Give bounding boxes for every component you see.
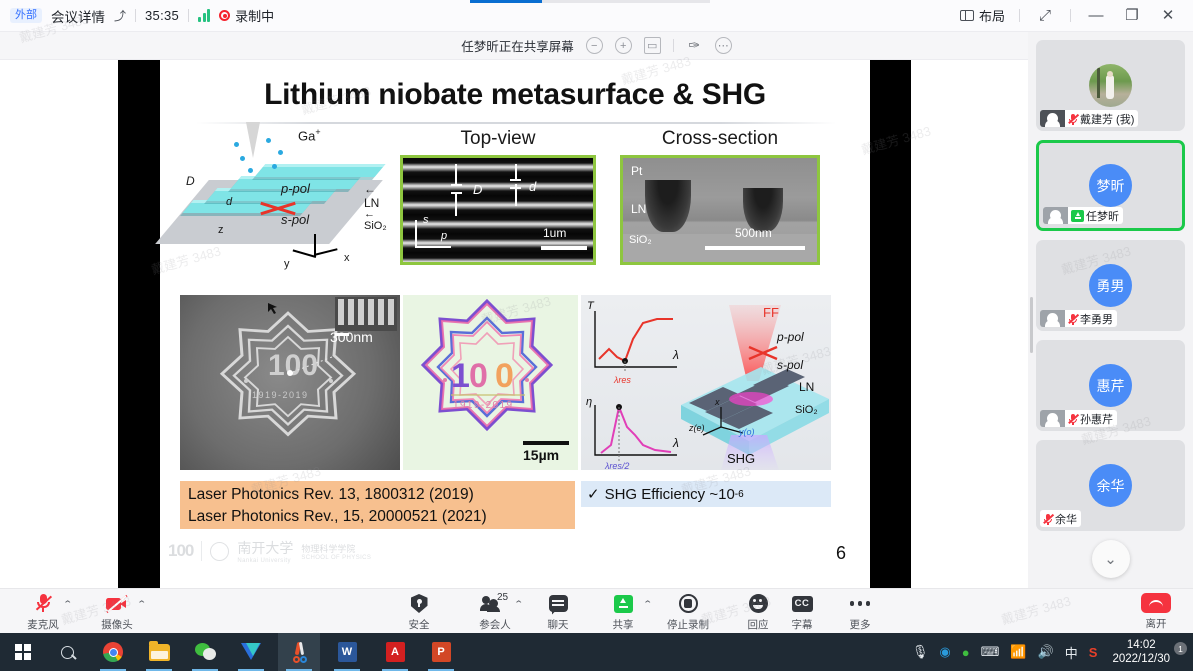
svg-text:T: T bbox=[587, 300, 595, 312]
participant-name: 李勇男 bbox=[1080, 311, 1113, 327]
wechat-icon bbox=[195, 643, 216, 661]
participant-name: 余华 bbox=[1055, 511, 1077, 527]
svg-text:1919-2019: 1919-2019 bbox=[453, 400, 513, 411]
svg-text:λres/2: λres/2 bbox=[604, 461, 629, 470]
svg-text:0: 0 bbox=[495, 357, 514, 395]
star-logo-shg-svg: 1 0 0 1919-2019 bbox=[403, 295, 578, 470]
citation-line-2: Laser Photonics Rev., 15, 20000521 (2021… bbox=[188, 506, 567, 528]
scroll-down-chevron-icon[interactable]: ⌄ bbox=[1092, 540, 1130, 578]
participant-nameplate: 孙惠芹 bbox=[1040, 410, 1117, 427]
participant-tile-0[interactable]: 戴建芳 (我) bbox=[1036, 40, 1185, 131]
participant-nameplate: 戴建芳 (我) bbox=[1040, 110, 1138, 127]
star-logo-sem-svg: 100 1919-2019 bbox=[180, 295, 400, 470]
slide-title: Lithium niobate metasurface & SHG bbox=[160, 78, 870, 112]
slide-page-number: 6 bbox=[836, 543, 846, 564]
captions-label: 字幕 bbox=[792, 617, 813, 632]
ga-ion-label: Ga+ bbox=[298, 127, 321, 143]
axis-z-label: z bbox=[218, 224, 224, 236]
topview-scale-label: 1um bbox=[543, 226, 566, 240]
wifi-icon[interactable]: 📶 bbox=[1010, 644, 1026, 660]
svg-text:FF: FF bbox=[763, 305, 779, 320]
more-dots-icon bbox=[850, 593, 870, 614]
windows-taskbar: W A P 🎙 ◉ ● ⌨ 📶 🔊 中 S 14:02 2022/12/30 1 bbox=[0, 633, 1193, 671]
topview-p-axis-label: p bbox=[441, 230, 447, 242]
recording-indicator: 录制中 bbox=[219, 6, 274, 25]
avatar: 勇男 bbox=[1089, 264, 1132, 307]
record-dot-icon bbox=[219, 10, 230, 21]
avatar: 惠芹 bbox=[1089, 364, 1132, 407]
microphone-label: 麦克风 bbox=[27, 617, 59, 632]
snipping-tool-icon bbox=[289, 642, 310, 663]
mic-muted-icon bbox=[1068, 113, 1078, 125]
microphone-tray-icon[interactable]: 🎙 bbox=[912, 644, 929, 660]
share-screen-icon bbox=[614, 593, 633, 614]
meeting-topbar: 外部 会议详情 ⤴ 35:35 录制中 布局 ⤢ — ❐ ✕ bbox=[0, 0, 1193, 32]
svg-text:SHG: SHG bbox=[727, 451, 755, 466]
school-name-cn: 物理科学学院 bbox=[301, 542, 371, 555]
more-options-icon[interactable]: ⋯ bbox=[715, 37, 732, 54]
slide-footer-logo: 100 南开大学 Nankai University 物理科学学院 SCHOOL… bbox=[168, 538, 371, 564]
more-options-button[interactable]: 更多 bbox=[831, 593, 889, 632]
divider bbox=[135, 9, 136, 22]
stop-recording-label: 停止录制 bbox=[667, 617, 709, 632]
participants-count: 25 bbox=[497, 592, 508, 603]
topview-caption: Top-view bbox=[400, 128, 596, 150]
topview-scale-bar bbox=[541, 246, 587, 250]
acrobat-icon: A bbox=[386, 642, 405, 662]
divider bbox=[188, 9, 189, 22]
clock-date: 2022/12/30 bbox=[1112, 653, 1170, 665]
screen-share-bar: 任梦昕正在共享屏幕 − + ▭ ✑ ⋯ bbox=[0, 32, 1193, 60]
participant-tile-3[interactable]: 惠芹 孙惠芹 bbox=[1036, 340, 1185, 431]
dimension-D-label: D bbox=[186, 174, 195, 188]
presentation-slide: Lithium niobate metasurface & SHG p-pol … bbox=[160, 60, 870, 588]
efficiency-exponent: -6 bbox=[735, 489, 744, 500]
shg-logo-image: 1 0 0 1919-2019 15µm bbox=[403, 295, 578, 470]
leave-label: 离开 bbox=[1146, 616, 1167, 631]
svg-text:1919-2019: 1919-2019 bbox=[252, 390, 309, 400]
clock[interactable]: 14:02 2022/12/30 bbox=[1108, 638, 1174, 666]
shared-screen-stage[interactable]: Lithium niobate metasurface & SHG p-pol … bbox=[0, 60, 1028, 588]
search-icon bbox=[61, 646, 74, 659]
taskbar-chrome[interactable] bbox=[92, 633, 134, 671]
participant-tile-1[interactable]: 梦昕 任梦昕 bbox=[1036, 140, 1185, 231]
avatar bbox=[1089, 64, 1132, 107]
recording-label: 录制中 bbox=[235, 6, 274, 25]
participants-chevron-icon[interactable]: ⌃ bbox=[514, 599, 524, 610]
svg-text:z(e): z(e) bbox=[688, 423, 705, 433]
topview-D-label: D bbox=[473, 182, 482, 197]
clock-time: 14:02 bbox=[1127, 639, 1156, 651]
participant-name: 任梦昕 bbox=[1086, 208, 1119, 224]
mic-options-chevron-icon[interactable]: ⌃ bbox=[63, 599, 73, 610]
mic-muted-icon bbox=[1043, 513, 1053, 525]
university-name-en: Nankai University bbox=[237, 558, 293, 564]
taskbar-word[interactable]: W bbox=[326, 633, 368, 671]
share-options-chevron-icon[interactable]: ⌃ bbox=[643, 599, 653, 610]
reaction-label: 回应 bbox=[748, 617, 769, 632]
fullscreen-expand-icon[interactable]: ⤢ bbox=[1034, 8, 1056, 23]
topview-s-axis-label: s bbox=[423, 214, 429, 226]
crosssection-scale-bar bbox=[705, 246, 805, 250]
start-button[interactable] bbox=[2, 633, 44, 671]
shg-scale-label: 15µm bbox=[523, 447, 559, 463]
citation-box: Laser Photonics Rev. 13, 1800312 (2019) … bbox=[180, 481, 575, 529]
captions-button[interactable]: CC 字幕 bbox=[773, 593, 831, 632]
person-icon bbox=[1040, 310, 1065, 327]
shg-process-schematic: T λ λres η λ λres/2 FF bbox=[581, 295, 831, 470]
camera-options-chevron-icon[interactable]: ⌃ bbox=[137, 599, 147, 610]
svg-text:λ: λ bbox=[672, 436, 679, 450]
chat-button[interactable]: 聊天 bbox=[529, 593, 587, 632]
people-icon: 25 bbox=[482, 593, 508, 614]
citation-line-1: Laser Photonics Rev. 13, 1800312 (2019) bbox=[188, 484, 567, 506]
participant-name: 孙惠芹 bbox=[1080, 411, 1113, 427]
efficiency-check-icon: ✓ bbox=[587, 485, 600, 503]
close-button[interactable]: ✕ bbox=[1157, 8, 1179, 23]
fib-schematic-diagram: p-pol s-pol ← LN ← SiO₂ D d z x y bbox=[168, 124, 386, 269]
security-button[interactable]: 安全 bbox=[390, 593, 448, 632]
search-button[interactable] bbox=[46, 633, 88, 671]
participants-label: 参会人 bbox=[479, 617, 511, 632]
ln-label: ← LN bbox=[364, 182, 386, 210]
svg-text:0: 0 bbox=[469, 357, 488, 395]
emoji-reaction-icon bbox=[749, 593, 768, 614]
sogou-input-icon[interactable]: S bbox=[1089, 645, 1098, 660]
camera-off-icon bbox=[106, 593, 128, 614]
s-pol-label: s-pol bbox=[281, 212, 309, 227]
layer-ln-label: LN bbox=[631, 202, 646, 216]
zoom-out-icon[interactable]: − bbox=[586, 37, 603, 54]
share-label: 共享 bbox=[613, 617, 634, 632]
taskbar-powerpoint[interactable]: P bbox=[420, 633, 462, 671]
efficiency-text: SHG Efficiency ~10 bbox=[605, 486, 735, 503]
screen-share-icon bbox=[1071, 210, 1084, 222]
shg-schematic-svg: T λ λres η λ λres/2 FF bbox=[581, 295, 831, 470]
sio2-label: ← SiO₂ bbox=[364, 208, 387, 232]
taskbar-voov-meeting[interactable] bbox=[230, 633, 272, 671]
axis-y-label: y bbox=[284, 258, 290, 270]
keyboard-icon[interactable]: ⌨ bbox=[981, 644, 1000, 660]
participant-nameplate: 任梦昕 bbox=[1043, 207, 1123, 224]
p-pol-label: p-pol bbox=[281, 181, 310, 196]
svg-text:p-pol: p-pol bbox=[776, 330, 804, 344]
powerpoint-icon: P bbox=[432, 642, 451, 662]
camera-label: 摄像头 bbox=[101, 617, 133, 632]
avatar: 余华 bbox=[1089, 464, 1132, 507]
stop-recording-button[interactable]: 停止录制 bbox=[659, 593, 717, 632]
participant-nameplate: 李勇男 bbox=[1040, 310, 1117, 327]
voov-meeting-icon bbox=[241, 643, 262, 661]
zoom-in-icon[interactable]: + bbox=[615, 37, 632, 54]
layout-icon bbox=[960, 10, 974, 21]
rail-scrollbar[interactable] bbox=[1030, 297, 1033, 353]
divider bbox=[1019, 9, 1020, 22]
taskbar-file-explorer[interactable] bbox=[138, 633, 180, 671]
stop-record-icon bbox=[679, 593, 698, 614]
divider bbox=[201, 541, 202, 561]
top-progress-bar bbox=[470, 0, 710, 3]
svg-text:100: 100 bbox=[268, 349, 318, 382]
file-explorer-icon bbox=[149, 644, 170, 661]
topview-sem-image: D d s p 1um bbox=[400, 155, 596, 265]
hangup-icon bbox=[1141, 593, 1171, 613]
word-icon: W bbox=[338, 642, 357, 662]
topview-d-label: d bbox=[529, 179, 536, 194]
axis-x-label: x bbox=[344, 252, 350, 264]
security-label: 安全 bbox=[409, 617, 430, 632]
university-seal-icon bbox=[210, 542, 229, 561]
share-notice-text: 任梦昕正在共享屏幕 bbox=[461, 36, 574, 55]
meeting-control-bar: 麦克风 ⌃ 摄像头 ⌃ 安全 25 参会人 ⌃ 聊天 共享 ⌃ 停止录制 回应 bbox=[0, 588, 1193, 633]
avatar: 梦昕 bbox=[1089, 164, 1132, 207]
participant-tile-2[interactable]: 勇男 李勇男 bbox=[1036, 240, 1185, 331]
wechat-tray-icon[interactable]: ● bbox=[962, 645, 970, 660]
meeting-details-label[interactable]: 会议详情 bbox=[51, 6, 105, 26]
svg-text:s-pol: s-pol bbox=[777, 358, 803, 372]
chat-label: 聊天 bbox=[548, 617, 569, 632]
external-badge: 外部 bbox=[10, 8, 42, 23]
taskbar-wechat[interactable] bbox=[184, 633, 226, 671]
pen-annotate-icon[interactable]: ✑ bbox=[686, 37, 703, 54]
maximize-button[interactable]: ❐ bbox=[1121, 8, 1143, 23]
university-name-cn: 南开大学 bbox=[237, 538, 293, 558]
svg-text:η: η bbox=[586, 396, 592, 408]
voov-tray-icon[interactable]: ◉ bbox=[939, 644, 950, 660]
crosssection-scale-label: 500nm bbox=[735, 226, 772, 240]
chat-icon bbox=[549, 593, 568, 614]
volume-icon[interactable]: 🔊 bbox=[1038, 644, 1054, 660]
svg-text:x: x bbox=[714, 397, 720, 407]
participant-rail[interactable]: 戴建芳 (我) 梦昕 任梦昕 勇男 李勇男 惠芹 bbox=[1028, 32, 1193, 588]
layer-pt-label: Pt bbox=[631, 164, 642, 178]
meeting-timer: 35:35 bbox=[145, 8, 179, 23]
svg-text:1: 1 bbox=[451, 357, 470, 395]
crosssection-caption: Cross-section bbox=[620, 128, 820, 150]
mic-muted-icon bbox=[1068, 413, 1078, 425]
dimension-d-label: d bbox=[226, 196, 232, 208]
sem-inset-scale-label: 300nm bbox=[330, 329, 373, 345]
more-label: 更多 bbox=[850, 617, 871, 632]
shield-icon bbox=[411, 593, 428, 614]
svg-text:SiO₂: SiO₂ bbox=[795, 404, 818, 416]
person-icon bbox=[1040, 110, 1065, 127]
divider bbox=[673, 39, 674, 52]
svg-text:LN: LN bbox=[799, 380, 814, 394]
system-tray: 🎙 ◉ ● ⌨ 📶 🔊 中 S 14:02 2022/12/30 1 bbox=[912, 633, 1193, 671]
sem-logo-image: 100 1919-2019 300nm bbox=[180, 295, 400, 470]
chrome-icon bbox=[103, 642, 123, 662]
signal-bars-icon bbox=[198, 9, 210, 22]
crosssection-sem-image: Pt LN SiO₂ 500nm bbox=[620, 155, 820, 265]
start-icon bbox=[15, 644, 31, 660]
xyz-axes-icon bbox=[288, 228, 344, 264]
mic-muted-icon bbox=[1068, 313, 1078, 325]
taskbar-snipping-tool[interactable] bbox=[278, 633, 320, 671]
cc-glyph: CC bbox=[792, 596, 813, 612]
participant-tile-4[interactable]: 余华 余华 bbox=[1036, 440, 1185, 531]
ime-indicator[interactable]: 中 bbox=[1065, 643, 1078, 662]
person-icon bbox=[1043, 207, 1068, 224]
minimize-button[interactable]: — bbox=[1085, 8, 1107, 23]
school-name-en: SCHOOL OF PHYSICS bbox=[301, 555, 371, 561]
fit-screen-icon[interactable]: ▭ bbox=[644, 37, 661, 54]
participant-name: 戴建芳 (我) bbox=[1080, 111, 1134, 127]
share-link-icon[interactable]: ⤴ bbox=[114, 7, 126, 24]
mic-muted-icon bbox=[35, 593, 52, 614]
svg-text:y(o): y(o) bbox=[738, 427, 755, 437]
layer-sio2-label: SiO₂ bbox=[629, 234, 652, 246]
taskbar-acrobat[interactable]: A bbox=[374, 633, 416, 671]
closed-caption-icon: CC bbox=[792, 593, 813, 614]
participant-nameplate: 余华 bbox=[1040, 510, 1081, 527]
layout-label: 布局 bbox=[979, 6, 1005, 25]
notification-count: 1 bbox=[1174, 642, 1187, 655]
svg-text:λ: λ bbox=[672, 348, 679, 362]
svg-text:λres: λres bbox=[613, 375, 631, 385]
layout-button[interactable]: 布局 bbox=[960, 6, 1005, 25]
leave-meeting-button[interactable]: 离开 bbox=[1127, 593, 1185, 631]
ion-beam-tip-icon bbox=[246, 122, 260, 158]
divider bbox=[1070, 9, 1071, 22]
person-icon bbox=[1040, 410, 1065, 427]
anniversary-100-label: 100 bbox=[168, 541, 193, 561]
efficiency-box: ✓ SHG Efficiency ~10 -6 bbox=[581, 481, 831, 507]
